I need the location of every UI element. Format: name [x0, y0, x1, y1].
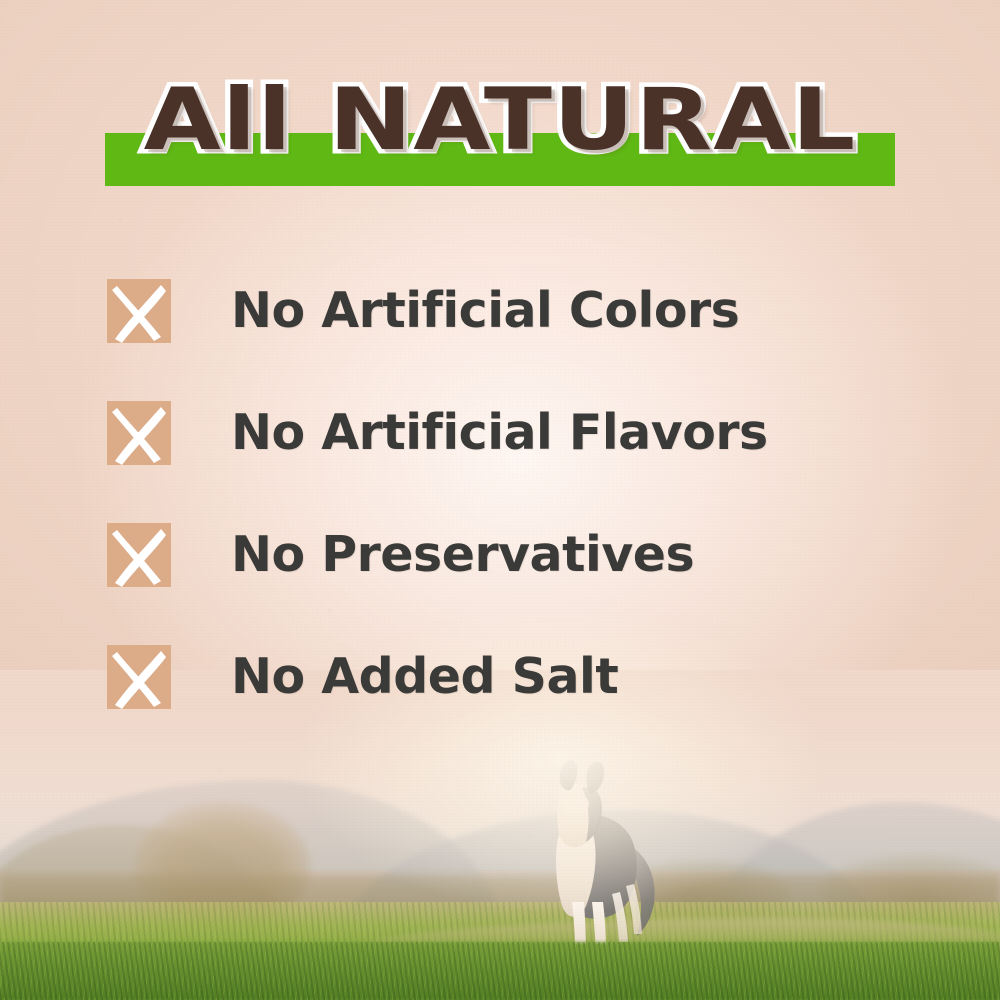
border-collie-dog [520, 752, 680, 962]
list-item: No Added Salt [0, 616, 1000, 738]
x-mark-icon [104, 641, 174, 713]
checkbox-no-preservatives[interactable] [107, 523, 171, 587]
x-mark-icon [104, 519, 174, 591]
x-mark-icon [104, 275, 174, 347]
x-mark-icon [104, 397, 174, 469]
checkbox-no-added-salt[interactable] [107, 645, 171, 709]
checkbox-no-artificial-flavors[interactable] [107, 401, 171, 465]
checkbox-no-artificial-colors[interactable] [107, 279, 171, 343]
list-item: No Artificial Colors [0, 250, 1000, 372]
title-banner: All NATURAL [0, 70, 1000, 195]
foreground-grass-texture [0, 942, 1000, 1000]
page-title: All NATURAL [0, 70, 1000, 170]
list-item-label: No Added Salt [231, 649, 618, 705]
feature-checklist: No Artificial Colors No Artificial Flavo… [0, 250, 1000, 738]
list-item-label: No Artificial Flavors [231, 405, 768, 461]
list-item-label: No Preservatives [231, 527, 694, 583]
list-item-label: No Artificial Colors [231, 283, 739, 339]
list-item: No Preservatives [0, 494, 1000, 616]
list-item: No Artificial Flavors [0, 372, 1000, 494]
poster-canvas: All NATURAL No Artificial Colors No Arti… [0, 0, 1000, 1000]
